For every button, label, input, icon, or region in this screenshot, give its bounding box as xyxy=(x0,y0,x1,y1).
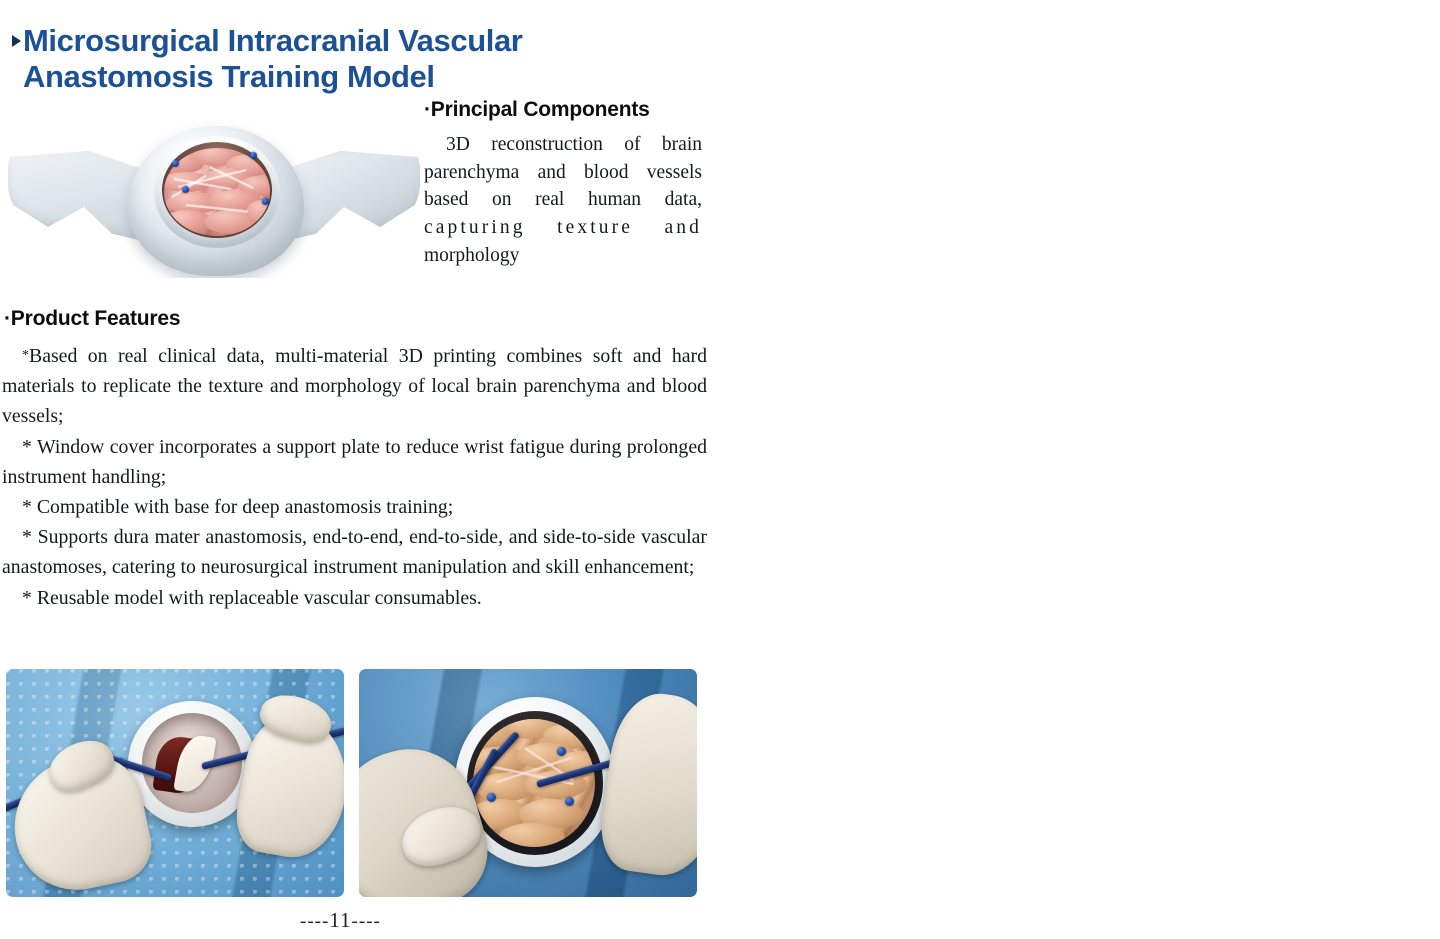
vessel-marker-pin xyxy=(182,186,189,193)
pc-l-part3: morphology xyxy=(424,245,519,266)
left-page-title-text: Microsurgical Intracranial Vascular Anas… xyxy=(23,23,612,95)
left-principal-components-heading: ·Principal Components xyxy=(424,98,650,122)
feature-item-text: * Reusable model with replaceable vascul… xyxy=(22,587,482,609)
brochure-spread: Microsurgical Intracranial Vascular Anas… xyxy=(0,0,1440,939)
bullet-dot-icon: · xyxy=(424,98,431,121)
right-page: Breast Tumor Excision Training Model ·Pr… xyxy=(720,0,1440,939)
vessel-marker-pin xyxy=(557,747,566,756)
vessel-marker-pin xyxy=(172,160,179,167)
feature-item: * Compatible with base for deep anastomo… xyxy=(2,492,707,522)
left-product-features-body: *Based on real clinical data, multi-mate… xyxy=(2,341,707,613)
pc-l-part2: capturing texture and xyxy=(424,217,702,238)
page-number-value: 11 xyxy=(329,908,351,932)
brain-parenchyma xyxy=(164,148,270,236)
page-dash-prefix: ---- xyxy=(300,911,329,932)
pc-l-part1: 3D reconstruction of brain parenchyma an… xyxy=(424,134,702,210)
left-product-features-heading: ·Product Features xyxy=(4,307,180,331)
feature-item: * Reusable model with replaceable vascul… xyxy=(2,583,707,613)
vessel-marker-pin xyxy=(565,797,574,806)
triangle-bullet-icon xyxy=(12,35,21,47)
feature-item: *Based on real clinical data, multi-mate… xyxy=(2,341,707,432)
left-principal-components-body: 3D reconstruction of brain parenchyma an… xyxy=(424,131,702,269)
vessel-marker-pin xyxy=(262,198,269,205)
feature-item: * Supports dura mater anastomosis, end-t… xyxy=(2,522,707,582)
brain-anastomosis-photo xyxy=(359,669,697,897)
bullet-dot-icon: · xyxy=(4,307,11,330)
feature-item-text: * Window cover incorporates a support pl… xyxy=(2,436,707,488)
feature-item-text: Based on real clinical data, multi-mater… xyxy=(2,345,707,427)
page-dash-suffix: ---- xyxy=(352,911,381,932)
feature-item-text: * Supports dura mater anastomosis, end-t… xyxy=(2,526,707,578)
left-page-number: ----11---- xyxy=(300,908,381,933)
vessel-marker-pin xyxy=(487,793,496,802)
left-page: Microsurgical Intracranial Vascular Anas… xyxy=(0,0,720,939)
left-principal-components-heading-text: Principal Components xyxy=(431,98,650,121)
left-product-features-heading-text: Product Features xyxy=(11,307,181,330)
vessel-marker-pin xyxy=(250,152,257,159)
left-page-title: Microsurgical Intracranial Vascular Anas… xyxy=(12,23,612,95)
feature-item-text: * Compatible with base for deep anastomo… xyxy=(22,496,453,518)
dura-incision-photo xyxy=(6,669,344,897)
brain-skull-model-figure xyxy=(4,108,424,278)
feature-item: * Window cover incorporates a support pl… xyxy=(2,432,707,492)
asterisk-marker: * xyxy=(22,348,29,363)
